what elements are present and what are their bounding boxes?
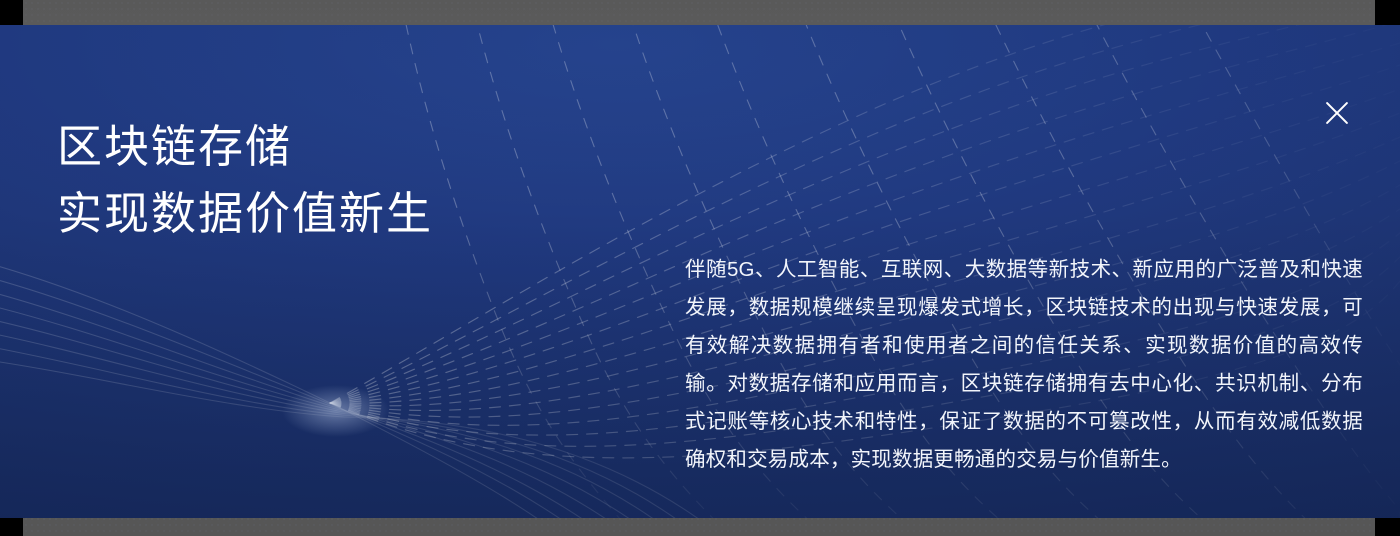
modal-title-line-1: 区块链存储 bbox=[57, 113, 617, 180]
modal-title: 区块链存储 实现数据价值新生 bbox=[57, 113, 617, 247]
screen: 区块链存储 实现数据价值新生 伴随5G、人工智能、互联网、大数据等新技术、新应用… bbox=[0, 0, 1400, 536]
close-icon[interactable] bbox=[1318, 94, 1356, 132]
modal-title-line-2: 实现数据价值新生 bbox=[57, 180, 617, 247]
blockchain-storage-modal: 区块链存储 实现数据价值新生 伴随5G、人工智能、互联网、大数据等新技术、新应用… bbox=[0, 25, 1400, 518]
modal-body-text: 伴随5G、人工智能、互联网、大数据等新技术、新应用的广泛普及和快速发展，数据规模… bbox=[685, 251, 1363, 479]
